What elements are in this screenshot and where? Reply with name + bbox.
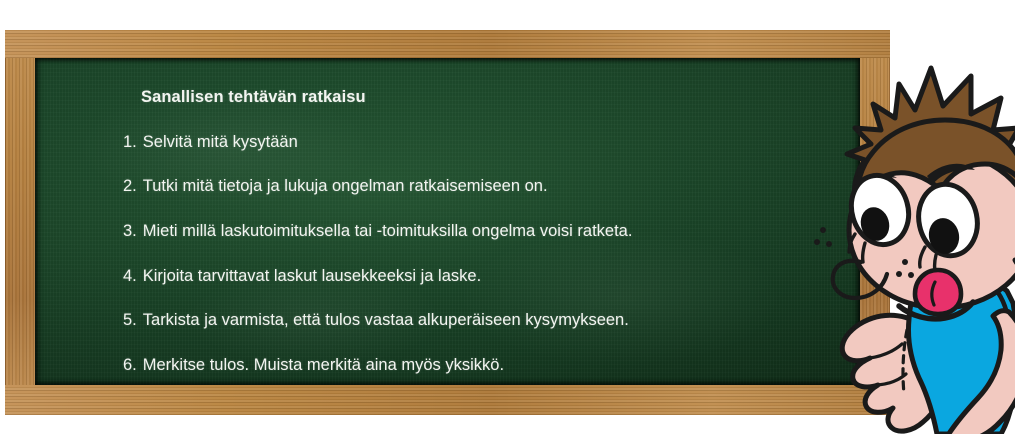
list-item: 6. Merkitse tulos. Muista merkitä aina m… bbox=[123, 355, 840, 376]
page-title: Sanallisen tehtävän ratkaisu bbox=[141, 88, 840, 108]
step-number: 2. bbox=[123, 176, 137, 197]
step-text: Merkitse tulos. Muista merkitä aina myös… bbox=[143, 355, 504, 376]
list-item: 2. Tutki mitä tietoja ja lukuja ongelman… bbox=[123, 176, 840, 197]
step-number: 3. bbox=[123, 221, 137, 242]
list-item: 1. Selvitä mitä kysytään bbox=[123, 132, 840, 153]
step-text: Tarkista ja varmista, että tulos vastaa … bbox=[143, 310, 629, 331]
cartoon-boy-illustration bbox=[795, 0, 1015, 434]
step-text: Mieti millä laskutoimituksella tai -toim… bbox=[143, 221, 633, 242]
list-item: 3. Mieti millä laskutoimituksella tai -t… bbox=[123, 221, 840, 242]
step-number: 1. bbox=[123, 132, 137, 153]
frame-top-rail bbox=[5, 30, 890, 58]
step-list: 1. Selvitä mitä kysytään 2. Tutki mitä t… bbox=[123, 132, 840, 376]
step-number: 5. bbox=[123, 310, 137, 331]
lesson-content: Sanallisen tehtävän ratkaisu 1. Selvitä … bbox=[123, 88, 840, 376]
chalkboard-frame: Sanallisen tehtävän ratkaisu 1. Selvitä … bbox=[5, 30, 890, 415]
step-number: 6. bbox=[123, 355, 137, 376]
step-number: 4. bbox=[123, 266, 137, 287]
list-item: 4. Kirjoita tarvittavat laskut lausekkee… bbox=[123, 266, 840, 287]
scene-canvas: Sanallisen tehtävän ratkaisu 1. Selvitä … bbox=[0, 0, 1015, 434]
step-text: Selvitä mitä kysytään bbox=[143, 132, 298, 153]
list-item: 5. Tarkista ja varmista, että tulos vast… bbox=[123, 310, 840, 331]
chalkboard-surface: Sanallisen tehtävän ratkaisu 1. Selvitä … bbox=[35, 58, 860, 385]
step-text: Kirjoita tarvittavat laskut lausekkeeksi… bbox=[143, 266, 481, 287]
frame-bottom-rail bbox=[5, 385, 890, 415]
step-text: Tutki mitä tietoja ja lukuja ongelman ra… bbox=[143, 176, 548, 197]
